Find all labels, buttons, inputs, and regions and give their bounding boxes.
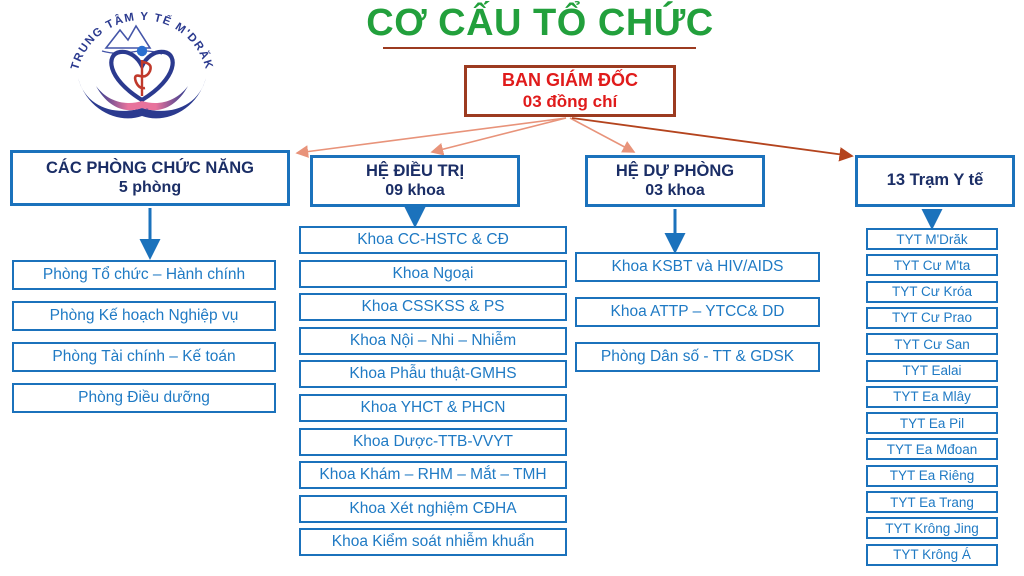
header-col2-line1: HỆ ĐIỀU TRỊ [366, 162, 464, 182]
leaf-node[interactable]: Khoa Xét nghiệm CĐHA [299, 495, 567, 523]
header-col4-line1: 13 Trạm Y tế [887, 171, 984, 191]
leaf-node[interactable]: Khoa CSSKSS & PS [299, 293, 567, 321]
header-cac-phong-chuc-nang[interactable]: CÁC PHÒNG CHỨC NĂNG 5 phòng [10, 150, 290, 206]
leaf-node[interactable]: Phòng Tài chính – Kế toán [12, 342, 276, 372]
leaf-node[interactable]: Khoa Phẫu thuật-GMHS [299, 360, 567, 388]
leaf-node[interactable]: Khoa Dược-TTB-VVYT [299, 428, 567, 456]
header-13-tram-y-te[interactable]: 13 Trạm Y tế [855, 155, 1015, 207]
leaf-node[interactable]: Khoa Kiểm soát nhiễm khuẩn [299, 528, 567, 556]
leaf-node[interactable]: TYT Ea Trang [866, 491, 998, 513]
leaf-node[interactable]: TYT M'Drăk [866, 228, 998, 250]
svg-text:Y TẾ: Y TẾ [135, 109, 148, 116]
leaf-node[interactable]: TYT Cư M'ta [866, 254, 998, 276]
leaf-node[interactable]: TYT Ealai [866, 360, 998, 382]
leaf-node[interactable]: TYT Ea Pil [866, 412, 998, 434]
header-col1-line1: CÁC PHÒNG CHỨC NĂNG [46, 159, 254, 179]
logo-graphic: TRUNG TÂM Y TẾ M'DRĂK Y TẾ [62, 4, 222, 126]
leaf-node[interactable]: Phòng Điều dưỡng [12, 383, 276, 413]
title-underline [383, 47, 696, 49]
leaf-node[interactable]: Khoa KSBT và HIV/AIDS [575, 252, 820, 282]
leaf-node[interactable]: Phòng Tổ chức – Hành chính [12, 260, 276, 290]
node-ban-giam-doc[interactable]: BAN GIÁM ĐỐC 03 đồng chí [464, 65, 676, 117]
leaf-node[interactable]: TYT Ea Riêng [866, 465, 998, 487]
node-ban-giam-doc-line2: 03 đồng chí [523, 92, 617, 112]
leaf-node[interactable]: Phòng Dân số - TT & GDSK [575, 342, 820, 372]
leaf-node[interactable]: Khoa ATTP – YTCC& DD [575, 297, 820, 327]
leaf-node[interactable]: Khoa Khám – RHM – Mắt – TMH [299, 461, 567, 489]
leaf-node[interactable]: Khoa CC-HSTC & CĐ [299, 226, 567, 254]
page-title: CƠ CẤU TỔ CHỨC [330, 2, 750, 45]
node-ban-giam-doc-line1: BAN GIÁM ĐỐC [502, 70, 638, 91]
leaf-node[interactable]: TYT Krông Á [866, 544, 998, 566]
leaf-node[interactable]: Phòng Kế hoạch Nghiệp vụ [12, 301, 276, 331]
leaf-node[interactable]: TYT Cư Króa [866, 281, 998, 303]
header-col1-line2: 5 phòng [119, 178, 181, 197]
leaf-node[interactable]: Khoa Ngoại [299, 260, 567, 288]
organization-logo: TRUNG TÂM Y TẾ M'DRĂK Y TẾ [62, 4, 222, 126]
edge-root-to-col3 [570, 118, 634, 152]
leaf-node[interactable]: TYT Cư Prao [866, 307, 998, 329]
edge-root-to-col2 [432, 118, 566, 152]
leaf-node[interactable]: TYT Cư San [866, 333, 998, 355]
leaf-node[interactable]: Khoa YHCT & PHCN [299, 394, 567, 422]
header-he-dieu-tri[interactable]: HỆ ĐIỀU TRỊ 09 khoa [310, 155, 520, 207]
leaf-node[interactable]: TYT Krông Jing [866, 517, 998, 539]
header-col2-line2: 09 khoa [385, 181, 445, 200]
header-col3-line1: HỆ DỰ PHÒNG [616, 162, 734, 182]
header-he-du-phong[interactable]: HỆ DỰ PHÒNG 03 khoa [585, 155, 765, 207]
leaf-node[interactable]: TYT Ea Mlây [866, 386, 998, 408]
header-col3-line2: 03 khoa [645, 181, 705, 200]
leaf-node[interactable]: Khoa Nội – Nhi – Nhiễm [299, 327, 567, 355]
edge-root-to-col4 [572, 118, 852, 156]
leaf-node[interactable]: TYT Ea Mđoan [866, 438, 998, 460]
edge-root-to-col1 [297, 118, 566, 153]
